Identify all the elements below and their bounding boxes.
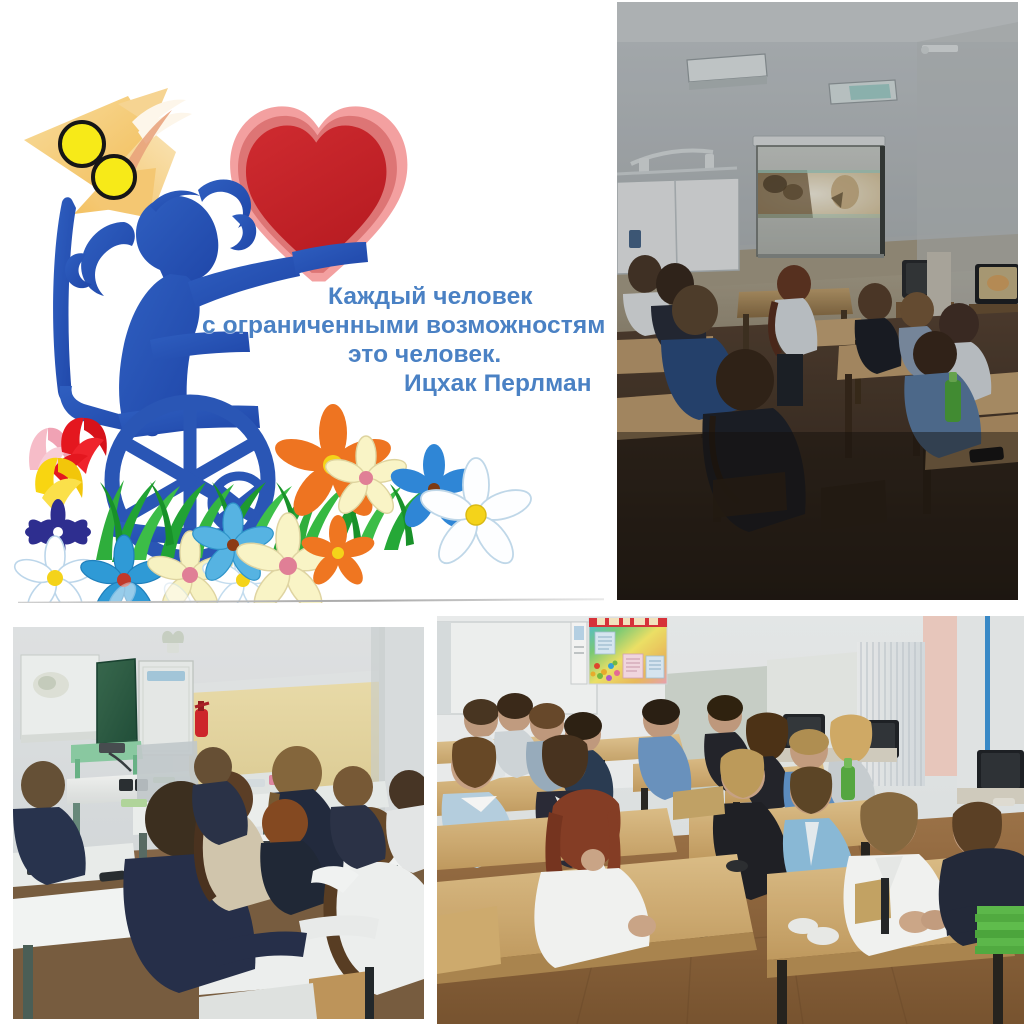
quote-line-2: с ограниченными возможностям <box>202 312 604 340</box>
quote-author: Ицхак Перлман <box>404 370 592 398</box>
classroom-chalkboard-photo <box>13 627 424 1019</box>
poster-quote: Каждый человек с ограниченными возможнос… <box>180 283 604 408</box>
photo-content <box>437 616 1024 1024</box>
quote-line-1: Каждый человек <box>328 283 533 311</box>
collage-canvas: Каждый человек с ограниченными возможнос… <box>0 0 1024 1024</box>
photo-content <box>617 2 1018 600</box>
classroom-students-photo <box>437 616 1024 1024</box>
classroom-projection-photo <box>617 2 1018 600</box>
photo-content <box>13 627 424 1019</box>
quote-line-3: это человек. <box>348 341 501 369</box>
disability-awareness-poster: Каждый человек с ограниченными возможнос… <box>0 0 604 603</box>
